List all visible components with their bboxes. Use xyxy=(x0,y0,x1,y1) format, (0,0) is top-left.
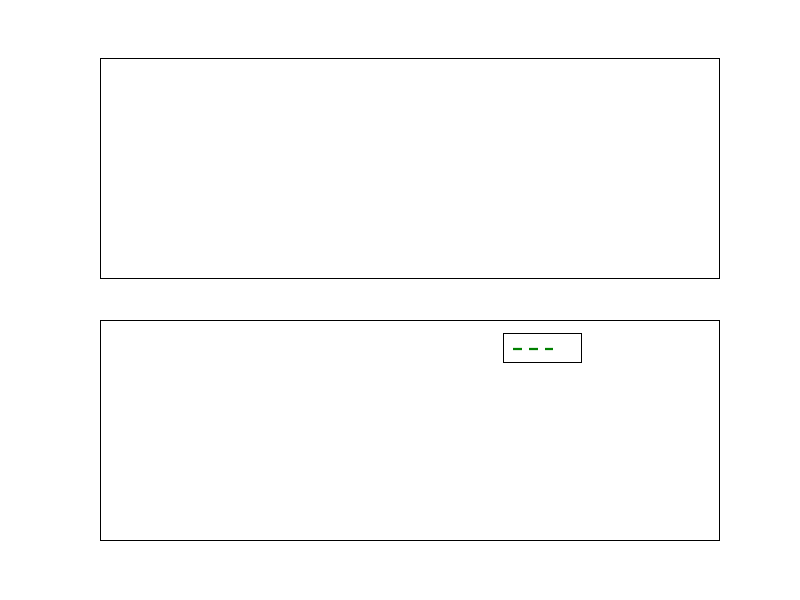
cumulative-curve-svg xyxy=(101,321,719,540)
top-panel-axes xyxy=(100,58,720,279)
mag-limit-legend-dash-icon xyxy=(512,341,554,355)
matplotlib-figure xyxy=(0,0,800,600)
legend xyxy=(503,333,582,363)
bottom-panel-axes xyxy=(100,320,720,541)
